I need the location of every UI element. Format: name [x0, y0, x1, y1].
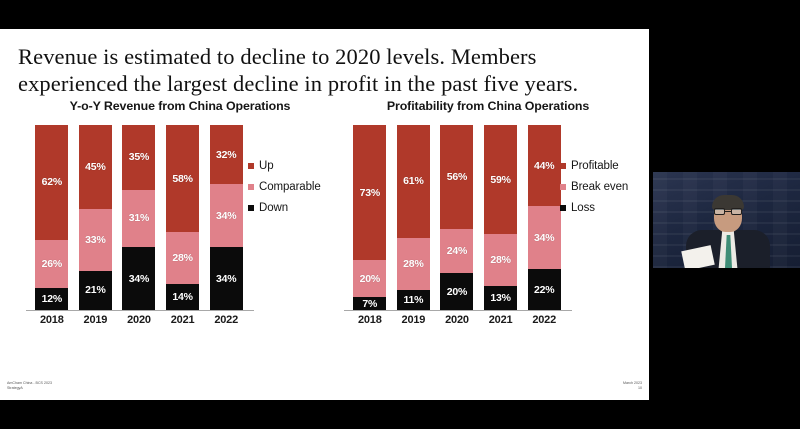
- profitability-x-label-2022: 2022: [522, 314, 566, 330]
- profitability-segment-profitable-2021: 59%: [484, 125, 517, 234]
- profitability-segment-break-even-2019: 28%: [397, 238, 430, 290]
- segment-value-label: 44%: [534, 160, 554, 172]
- revenue-x-label-2021: 2021: [161, 314, 205, 330]
- segment-value-label: 32%: [216, 149, 236, 161]
- profitability-bar-2019: 61%28%11%: [392, 125, 436, 310]
- profitability-segment-loss-2022: 22%: [528, 269, 561, 310]
- glasses-icon: [714, 208, 742, 215]
- profitability-x-label-2020: 2020: [435, 314, 479, 330]
- segment-value-label: 14%: [172, 291, 192, 303]
- segment-value-label: 59%: [490, 174, 510, 186]
- chart-revenue-x-labels: 20182019202020212022: [30, 314, 248, 330]
- segment-value-label: 7%: [362, 298, 377, 310]
- legend-swatch-up-icon: [248, 163, 254, 169]
- slide-footer-left: AmCham China - BCS 2023StrategyA: [7, 381, 52, 391]
- profitability-segment-loss-2021: 13%: [484, 286, 517, 310]
- legend-swatch-loss-icon: [560, 205, 566, 211]
- legend-label-profitable: Profitable: [571, 160, 619, 172]
- screen: Revenue is estimated to decline to 2020 …: [0, 0, 800, 429]
- chart-revenue: Y-o-Y Revenue from China Operations 62%2…: [12, 99, 334, 349]
- profitability-segment-profitable-2020: 56%: [440, 125, 473, 229]
- presentation-slide: Revenue is estimated to decline to 2020 …: [0, 29, 649, 400]
- segment-value-label: 24%: [447, 245, 467, 257]
- chart-profitability-title: Profitability from China Operations: [330, 99, 642, 113]
- legend-label-break-even: Break even: [571, 181, 628, 193]
- chart-profitability-plot: 73%20%7%61%28%11%56%24%20%59%28%13%44%34…: [330, 125, 642, 315]
- stacked-bar: 44%34%22%: [528, 125, 561, 310]
- segment-value-label: 12%: [42, 293, 62, 305]
- legend-swatch-break-even-icon: [560, 184, 566, 190]
- stacked-bar: 45%33%21%: [79, 125, 112, 310]
- profitability-segment-break-even-2021: 28%: [484, 234, 517, 286]
- revenue-segment-up-2018: 62%: [35, 125, 68, 240]
- legend-item-break-even: Break even: [560, 176, 628, 197]
- stacked-bar: 56%24%20%: [440, 125, 473, 310]
- revenue-segment-comparable-2019: 33%: [79, 209, 112, 271]
- segment-value-label: 31%: [129, 212, 149, 224]
- chart-profitability-bars: 73%20%7%61%28%11%56%24%20%59%28%13%44%34…: [348, 125, 566, 310]
- legend-item-down: Down: [248, 197, 321, 218]
- legend-item-loss: Loss: [560, 197, 628, 218]
- legend-swatch-profitable-icon: [560, 163, 566, 169]
- profitability-x-label-2021: 2021: [479, 314, 523, 330]
- slide-footer-right: March 202310: [623, 381, 642, 391]
- revenue-segment-down-2020: 34%: [122, 247, 155, 310]
- stacked-bar: 62%26%12%: [35, 125, 68, 310]
- profitability-segment-profitable-2018: 73%: [353, 125, 386, 260]
- stacked-bar: 61%28%11%: [397, 125, 430, 310]
- segment-value-label: 22%: [534, 284, 554, 296]
- stacked-bar: 59%28%13%: [484, 125, 517, 310]
- revenue-bar-2021: 58%28%14%: [161, 125, 205, 310]
- profitability-segment-loss-2018: 7%: [353, 297, 386, 310]
- revenue-x-label-2020: 2020: [117, 314, 161, 330]
- legend-item-profitable: Profitable: [560, 155, 628, 176]
- segment-value-label: 28%: [403, 258, 423, 270]
- revenue-segment-up-2020: 35%: [122, 125, 155, 190]
- segment-value-label: 58%: [172, 173, 192, 185]
- legend-label-loss: Loss: [571, 202, 595, 214]
- stacked-bar: 35%31%34%: [122, 125, 155, 310]
- legend-item-comparable: Comparable: [248, 176, 321, 197]
- legend-swatch-comparable-icon: [248, 184, 254, 190]
- legend-swatch-down-icon: [248, 205, 254, 211]
- revenue-x-label-2019: 2019: [74, 314, 118, 330]
- segment-value-label: 34%: [534, 232, 554, 244]
- revenue-bar-2018: 62%26%12%: [30, 125, 74, 310]
- segment-value-label: 33%: [85, 234, 105, 246]
- profitability-segment-break-even-2020: 24%: [440, 229, 473, 273]
- chart-profitability-legend: Profitable Break even Loss: [560, 155, 628, 218]
- segment-value-label: 11%: [403, 294, 423, 306]
- revenue-segment-up-2021: 58%: [166, 125, 199, 232]
- segment-value-label: 20%: [447, 286, 467, 298]
- revenue-segment-comparable-2021: 28%: [166, 232, 199, 284]
- revenue-segment-up-2019: 45%: [79, 125, 112, 209]
- video-participant-tile[interactable]: [653, 172, 800, 268]
- segment-value-label: 34%: [129, 273, 149, 285]
- profitability-bar-2018: 73%20%7%: [348, 125, 392, 310]
- chart-revenue-axis-line: [26, 310, 254, 311]
- profitability-bar-2021: 59%28%13%: [479, 125, 523, 310]
- profitability-x-label-2019: 2019: [392, 314, 436, 330]
- revenue-bar-2022: 32%34%34%: [204, 125, 248, 310]
- profitability-segment-profitable-2022: 44%: [528, 125, 561, 206]
- slide-title: Revenue is estimated to decline to 2020 …: [18, 43, 628, 97]
- profitability-segment-loss-2019: 11%: [397, 290, 430, 310]
- segment-value-label: 28%: [490, 254, 510, 266]
- chart-profitability-axis-line: [344, 310, 572, 311]
- segment-value-label: 34%: [216, 273, 236, 285]
- revenue-segment-down-2018: 12%: [35, 288, 68, 310]
- chart-revenue-bars: 62%26%12%45%33%21%35%31%34%58%28%14%32%3…: [30, 125, 248, 310]
- segment-value-label: 45%: [85, 161, 105, 173]
- revenue-segment-down-2019: 21%: [79, 271, 112, 310]
- revenue-segment-comparable-2018: 26%: [35, 240, 68, 288]
- chart-profitability: Profitability from China Operations 73%2…: [330, 99, 642, 349]
- stacked-bar: 58%28%14%: [166, 125, 199, 310]
- revenue-segment-comparable-2020: 31%: [122, 190, 155, 247]
- segment-value-label: 56%: [447, 171, 467, 183]
- revenue-x-label-2022: 2022: [204, 314, 248, 330]
- segment-value-label: 28%: [172, 252, 192, 264]
- revenue-segment-comparable-2022: 34%: [210, 184, 243, 247]
- segment-value-label: 20%: [360, 273, 380, 285]
- legend-item-up: Up: [248, 155, 321, 176]
- profitability-segment-break-even-2018: 20%: [353, 260, 386, 297]
- revenue-segment-down-2022: 34%: [210, 247, 243, 310]
- revenue-bar-2020: 35%31%34%: [117, 125, 161, 310]
- chart-revenue-legend: Up Comparable Down: [248, 155, 321, 218]
- profitability-segment-loss-2020: 20%: [440, 273, 473, 310]
- stacked-bar: 73%20%7%: [353, 125, 386, 310]
- profitability-segment-break-even-2022: 34%: [528, 206, 561, 269]
- segment-value-label: 13%: [490, 292, 510, 304]
- segment-value-label: 61%: [403, 175, 423, 187]
- profitability-segment-profitable-2019: 61%: [397, 125, 430, 238]
- stacked-bar: 32%34%34%: [210, 125, 243, 310]
- segment-value-label: 35%: [129, 151, 149, 163]
- segment-value-label: 21%: [85, 284, 105, 296]
- chart-profitability-x-labels: 20182019202020212022: [348, 314, 566, 330]
- legend-label-down: Down: [259, 202, 288, 214]
- segment-value-label: 34%: [216, 210, 236, 222]
- chart-revenue-plot: 62%26%12%45%33%21%35%31%34%58%28%14%32%3…: [12, 125, 334, 315]
- legend-label-up: Up: [259, 160, 274, 172]
- segment-value-label: 26%: [42, 258, 62, 270]
- segment-value-label: 73%: [360, 187, 380, 199]
- revenue-segment-down-2021: 14%: [166, 284, 199, 310]
- revenue-x-label-2018: 2018: [30, 314, 74, 330]
- profitability-bar-2020: 56%24%20%: [435, 125, 479, 310]
- chart-revenue-title: Y-o-Y Revenue from China Operations: [12, 99, 334, 113]
- revenue-bar-2019: 45%33%21%: [74, 125, 118, 310]
- legend-label-comparable: Comparable: [259, 181, 321, 193]
- profitability-x-label-2018: 2018: [348, 314, 392, 330]
- revenue-segment-up-2022: 32%: [210, 125, 243, 184]
- segment-value-label: 62%: [42, 176, 62, 188]
